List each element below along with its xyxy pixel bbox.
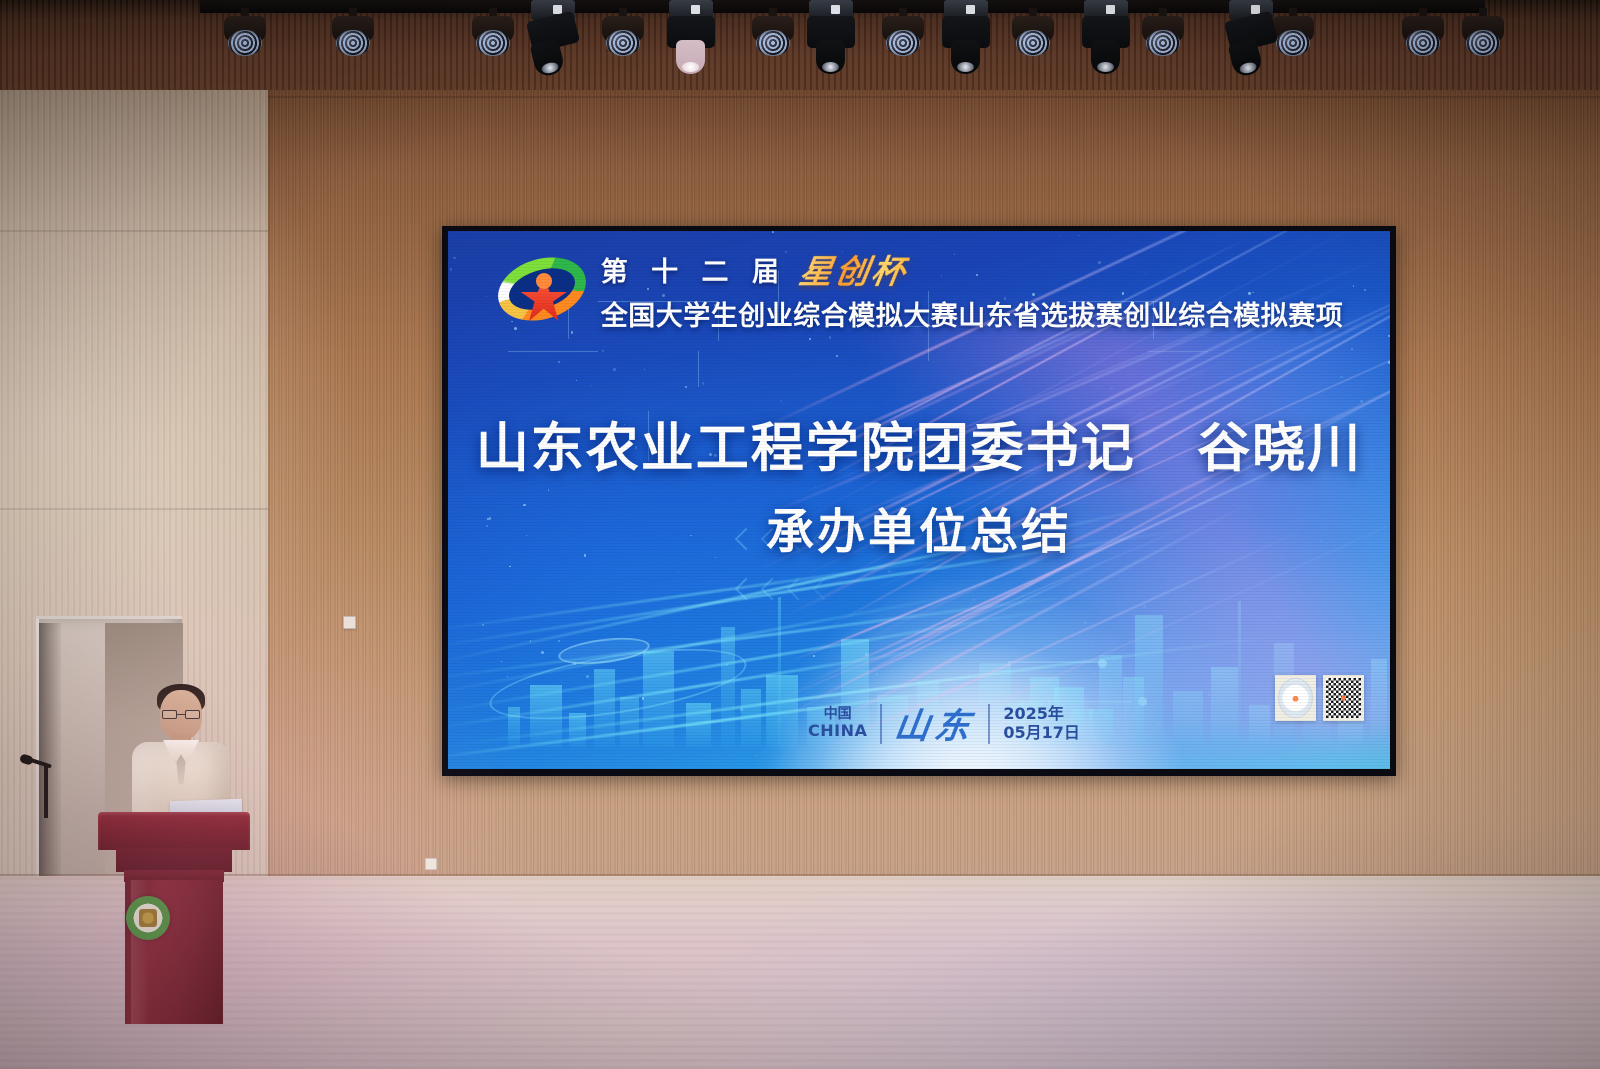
par-can-light: [880, 8, 926, 58]
wall-seam: [0, 230, 268, 232]
led-screen-frame: 第 十 二 届 星创杯 全国大学生创业综合模拟大赛山东省选拔赛创业综合模拟赛项 …: [442, 226, 1396, 776]
moving-head-spotlight: [940, 0, 992, 74]
par-can-light: [330, 8, 376, 58]
lectern-top: [98, 812, 250, 850]
lighting-rig: [0, 0, 1600, 92]
wall-seam: [268, 96, 1600, 98]
lectern-neck: [116, 848, 232, 872]
moving-head-spotlight: [1225, 0, 1277, 74]
par-can-light: [470, 8, 516, 58]
par-can-light: [222, 8, 268, 58]
wall-seam: [268, 90, 270, 880]
par-can-light: [1140, 8, 1186, 58]
led-screen: 第 十 二 届 星创杯 全国大学生创业综合模拟大赛山东省选拔赛创业综合模拟赛项 …: [448, 231, 1390, 769]
gooseneck-microphone: [20, 756, 66, 818]
glasses-icon: [162, 710, 200, 720]
par-can-light: [750, 8, 796, 58]
led-scanlines: [448, 231, 1390, 769]
stage-scene: 第 十 二 届 星创杯 全国大学生创业综合模拟大赛山东省选拔赛创业综合模拟赛项 …: [0, 0, 1600, 1069]
moving-head-spotlight: [665, 0, 717, 74]
wall-outlet-lower: [425, 858, 437, 870]
mic-stand: [44, 766, 48, 818]
wall-seam: [0, 508, 268, 510]
par-can-light: [1460, 8, 1506, 58]
moving-head-spotlight: [1080, 0, 1132, 74]
lectern: [98, 812, 250, 1024]
university-seal-emblem: [126, 896, 170, 940]
par-can-light: [1400, 8, 1446, 58]
mic-capsule: [19, 753, 34, 766]
moving-head-spotlight: [527, 0, 579, 74]
par-can-light: [600, 8, 646, 58]
wall-outlet-upper: [343, 616, 356, 629]
par-can-light: [1010, 8, 1056, 58]
moving-head-spotlight: [805, 0, 857, 74]
